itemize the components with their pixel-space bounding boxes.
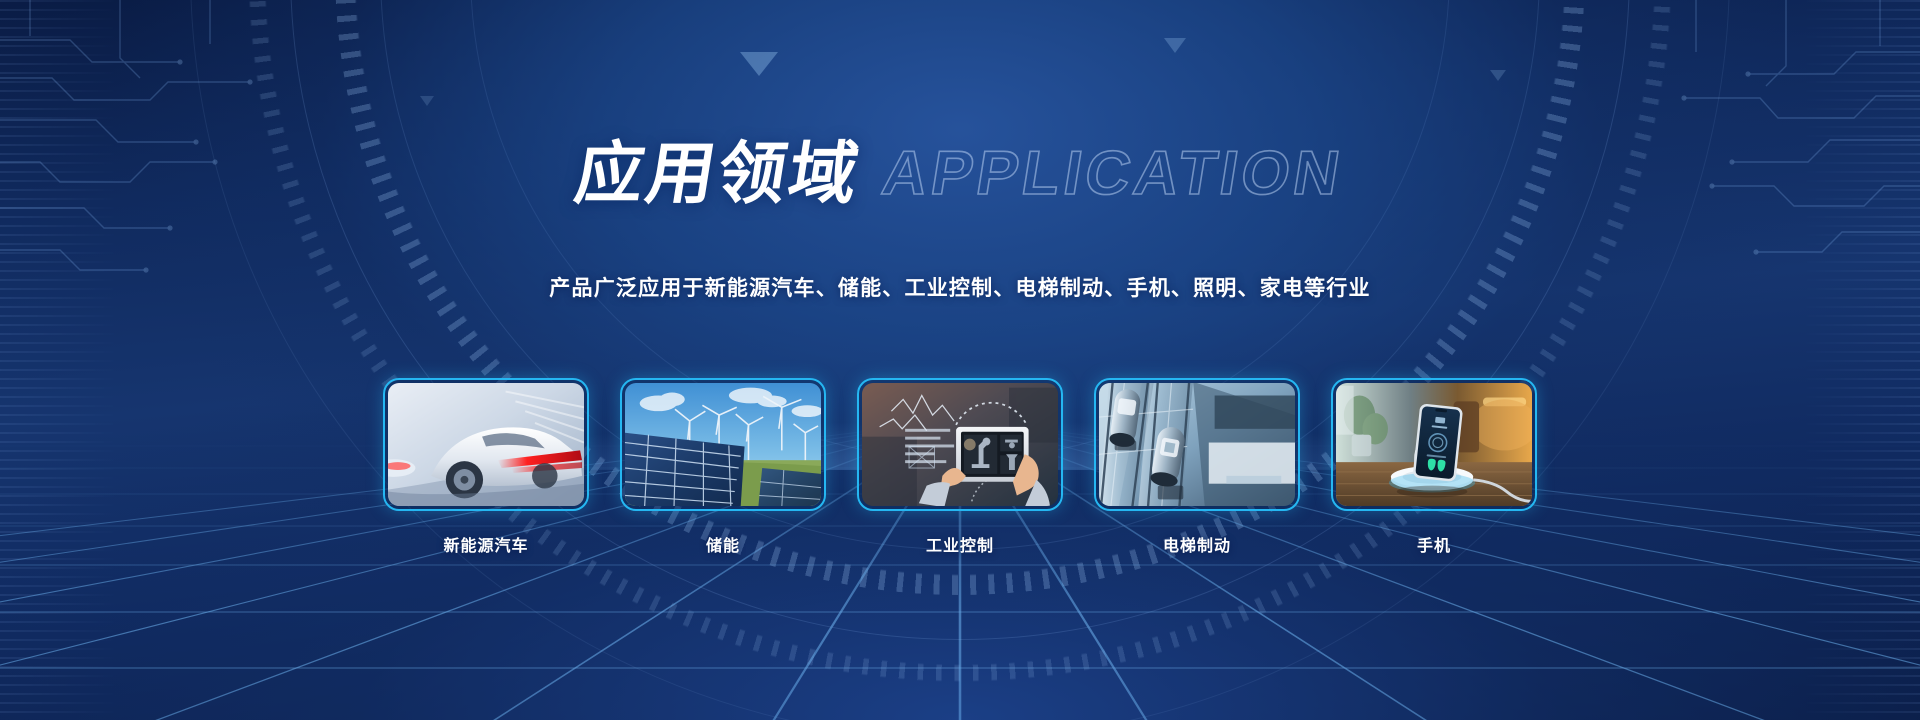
- triangle-decoration-3: [1490, 70, 1506, 81]
- card-frame[interactable]: [1094, 378, 1300, 511]
- tick-column-left-decoration: [0, 0, 120, 720]
- background-decorations: [0, 0, 1920, 720]
- card-label: 工业控制: [926, 532, 994, 556]
- page-title-english: APPLICATION: [878, 138, 1349, 209]
- application-card[interactable]: 电梯制动: [1094, 378, 1300, 556]
- application-card[interactable]: 手机: [1331, 378, 1537, 556]
- card-frame[interactable]: [1331, 378, 1537, 511]
- glass-elevator-shafts-photo: [1099, 383, 1295, 506]
- headline-block: 应用领域APPLICATION: [0, 118, 1920, 217]
- card-label: 储能: [706, 532, 740, 556]
- electric-sports-car-photo: [388, 383, 584, 506]
- application-card[interactable]: 工业控制: [857, 378, 1063, 556]
- triangle-decoration-4: [420, 96, 434, 106]
- application-banner: 应用领域APPLICATION 产品广泛应用于新能源汽车、储能、工业控制、电梯制…: [0, 0, 1920, 720]
- tick-column-right-decoration: [1800, 0, 1920, 720]
- application-card-list: 新能源汽车: [0, 378, 1920, 556]
- application-card[interactable]: 储能: [620, 378, 826, 556]
- dashed-ring-outer-decoration: [245, 0, 1675, 685]
- solar-panels-wind-turbines-photo: [625, 383, 821, 506]
- card-frame[interactable]: [620, 378, 826, 511]
- hands-holding-tablet-robot-arm-photo: [862, 383, 1058, 506]
- page-title: 应用领域: [569, 118, 869, 217]
- card-label: 手机: [1417, 532, 1451, 556]
- card-frame[interactable]: [383, 378, 589, 511]
- card-label: 新能源汽车: [443, 532, 528, 556]
- page-subtitle: 产品广泛应用于新能源汽车、储能、工业控制、电梯制动、手机、照明、家电等行业: [0, 272, 1920, 302]
- triangle-decoration-1: [740, 52, 778, 76]
- triangle-decoration-2: [1164, 38, 1186, 53]
- arc-ring-4-decoration: [190, 0, 1730, 720]
- smartphone-wireless-charging-stand-photo: [1336, 383, 1532, 506]
- application-card[interactable]: 新能源汽车: [383, 378, 589, 556]
- card-frame[interactable]: [857, 378, 1063, 511]
- card-label: 电梯制动: [1163, 532, 1231, 556]
